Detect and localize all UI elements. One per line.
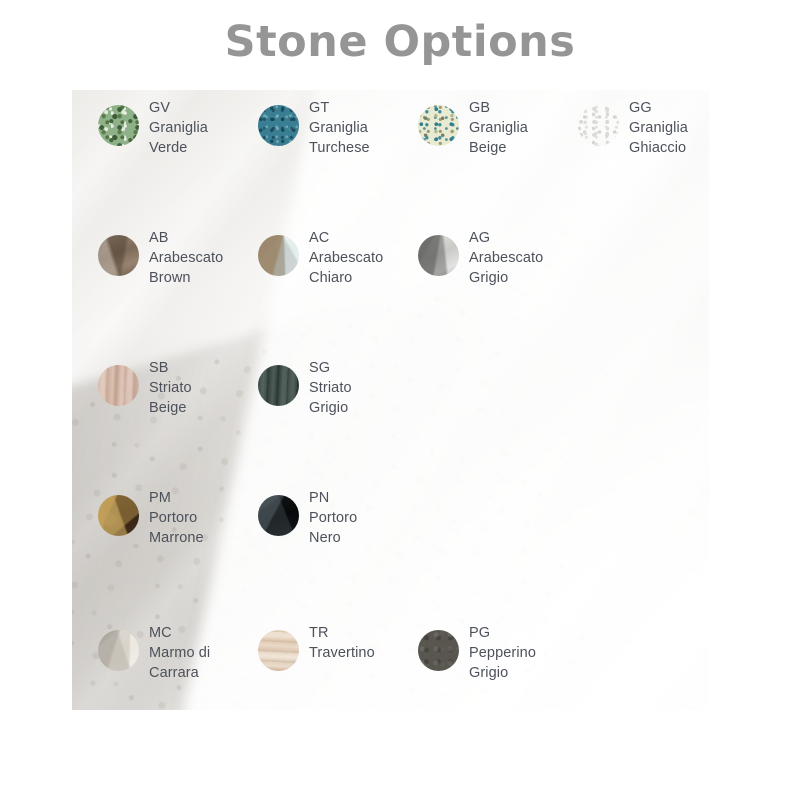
stone-option-label: SG Striato Grigio [309, 357, 352, 418]
stone-option-label: AB Arabescato Brown [149, 227, 223, 288]
stone-option-mc[interactable]: MC Marmo di Carrara [98, 622, 258, 683]
stone-option-ag[interactable]: AG Arabescato Grigio [418, 227, 578, 288]
stone-option-label: PN Portoro Nero [309, 487, 357, 548]
stone-option-tr[interactable]: TR Travertino [258, 622, 418, 671]
stone-option-label: GB Graniglia Beige [469, 97, 528, 158]
stone-swatch-icon-tr[interactable] [258, 630, 299, 671]
stone-swatch-icon-ab[interactable] [98, 235, 139, 276]
stone-swatch-icon-gb[interactable] [418, 105, 459, 146]
stone-swatch-icon-pg[interactable] [418, 630, 459, 671]
stone-swatch-icon-mc[interactable] [98, 630, 139, 671]
stone-option-sg[interactable]: SG Striato Grigio [258, 357, 418, 418]
stone-swatch-icon-ag[interactable] [418, 235, 459, 276]
stone-option-label: AG Arabescato Grigio [469, 227, 543, 288]
page-title: Stone Options [0, 17, 800, 67]
stone-option-sb[interactable]: SB Striato Beige [98, 357, 258, 418]
stone-option-label: MC Marmo di Carrara [149, 622, 210, 683]
stone-swatch-grid: GV Graniglia VerdeGT Graniglia TurcheseG… [72, 90, 709, 710]
stone-option-label: PG Pepperino Grigio [469, 622, 536, 683]
stone-swatch-icon-ac[interactable] [258, 235, 299, 276]
stone-option-pg[interactable]: PG Pepperino Grigio [418, 622, 578, 683]
stone-options-page: Stone Options GV Graniglia VerdeGT Grani… [0, 0, 800, 800]
stone-option-ab[interactable]: AB Arabescato Brown [98, 227, 258, 288]
stone-option-label: GV Graniglia Verde [149, 97, 208, 158]
stone-swatch-icon-pn[interactable] [258, 495, 299, 536]
stone-swatch-icon-gg[interactable] [578, 105, 619, 146]
stone-option-label: GG Graniglia Ghiaccio [629, 97, 688, 158]
stone-option-pm[interactable]: PM Portoro Marrone [98, 487, 258, 548]
stone-option-label: PM Portoro Marrone [149, 487, 204, 548]
stone-option-gb[interactable]: GB Graniglia Beige [418, 97, 578, 158]
stone-option-label: SB Striato Beige [149, 357, 192, 418]
stone-option-label: GT Graniglia Turchese [309, 97, 370, 158]
stone-option-pn[interactable]: PN Portoro Nero [258, 487, 418, 548]
stone-option-gg[interactable]: GG Graniglia Ghiaccio [578, 97, 709, 158]
stone-swatch-icon-gt[interactable] [258, 105, 299, 146]
stone-swatch-icon-pm[interactable] [98, 495, 139, 536]
stone-swatch-icon-sb[interactable] [98, 365, 139, 406]
stone-swatch-icon-gv[interactable] [98, 105, 139, 146]
stone-option-label: TR Travertino [309, 622, 375, 663]
stone-swatch-icon-sg[interactable] [258, 365, 299, 406]
stone-option-gt[interactable]: GT Graniglia Turchese [258, 97, 418, 158]
stone-option-label: AC Arabescato Chiaro [309, 227, 383, 288]
stone-swatch-panel: GV Graniglia VerdeGT Graniglia TurcheseG… [72, 90, 709, 710]
stone-option-ac[interactable]: AC Arabescato Chiaro [258, 227, 418, 288]
stone-option-gv[interactable]: GV Graniglia Verde [98, 97, 258, 158]
